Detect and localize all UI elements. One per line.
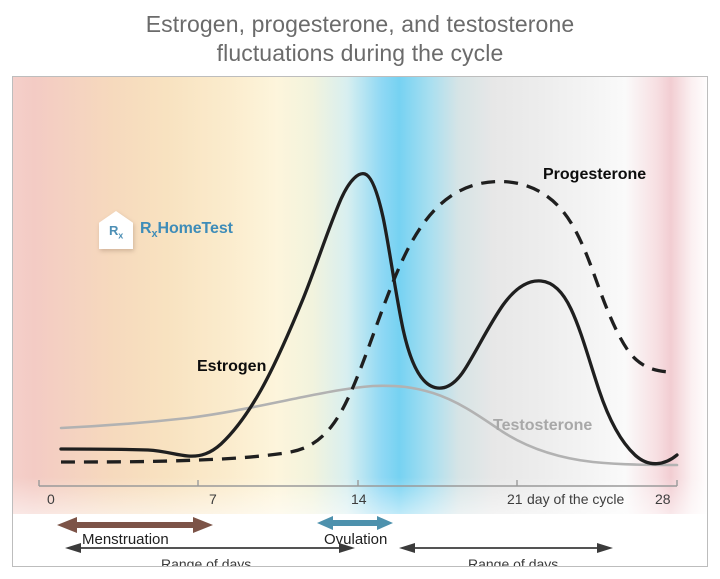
- logo-mark-subscript: x: [118, 231, 123, 241]
- ovulation-arrow: [317, 516, 393, 530]
- progesterone-series-label: Progesterone: [543, 166, 646, 184]
- range-of-days-label-right: Range of days: [468, 556, 558, 567]
- x-tick-label-14: 14: [351, 491, 367, 507]
- chart-panel: Rx RxHomeTest Estrogen Progesterone Test…: [12, 76, 708, 567]
- x-axis: [39, 480, 677, 486]
- menstruation-label: Menstruation: [82, 531, 169, 548]
- logo-wordmark-suffix: HomeTest: [158, 220, 233, 237]
- range-of-days-label-left: Range of days: [161, 556, 251, 567]
- logo-wordmark-prefix: R: [140, 220, 151, 237]
- x-tick-label-28: 28: [655, 491, 671, 507]
- x-tick-label-7: 7: [209, 491, 217, 507]
- x-tick-label-0: 0: [47, 491, 55, 507]
- ovulation-label: Ovulation: [324, 531, 387, 548]
- logo-wordmark: RxHomeTest: [140, 220, 233, 240]
- x-tick-label-21: 21: [507, 491, 523, 507]
- page-title-line-2: fluctuations during the cycle: [0, 39, 720, 68]
- estrogen-series-label: Estrogen: [197, 358, 266, 376]
- rxhometest-logo[interactable]: Rx RxHomeTest: [99, 211, 233, 249]
- house-icon: Rx: [99, 211, 133, 249]
- x-axis-title: day of the cycle: [527, 491, 624, 507]
- testosterone-series-label: Testosterone: [493, 417, 592, 435]
- logo-mark-letter: R: [109, 223, 118, 238]
- range-of-days-arrow-right: [399, 543, 613, 553]
- page-title-line-1: Estrogen, progesterone, and testosterone: [0, 10, 720, 39]
- page-title: Estrogen, progesterone, and testosterone…: [0, 10, 720, 68]
